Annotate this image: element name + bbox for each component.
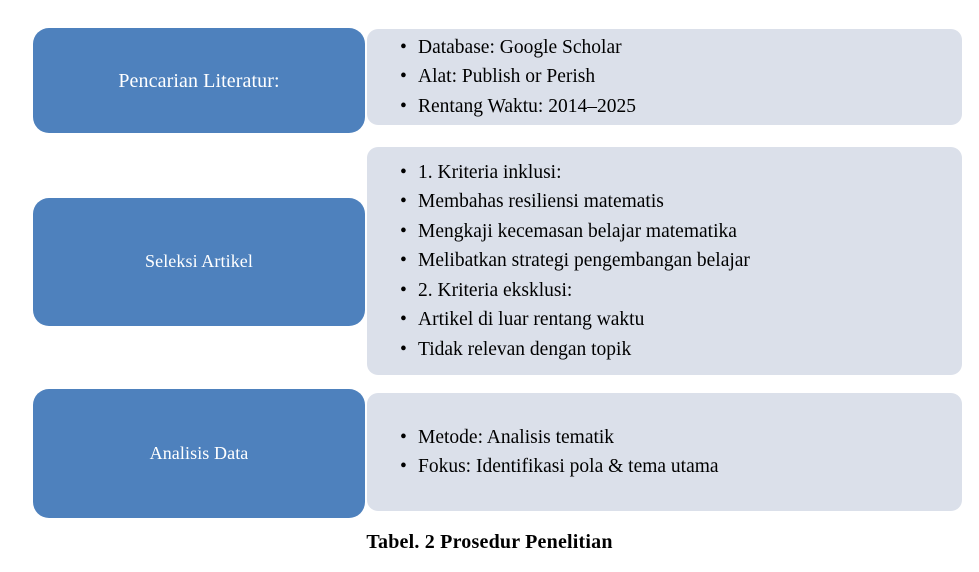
list-item: •Artikel di luar rentang waktu	[400, 305, 962, 335]
bullet-text: Database: Google Scholar	[418, 37, 622, 58]
list-item: •Rentang Waktu: 2014–2025	[400, 92, 962, 122]
list-item: •Alat: Publish or Perish	[400, 62, 962, 92]
bullet-point-icon: •	[400, 423, 407, 453]
bullet-text: Membahas resiliensi matematis	[418, 191, 664, 212]
bullet-text: Metode: Analisis tematik	[418, 427, 614, 448]
bullet-point-icon: •	[400, 33, 407, 63]
bullet-list-1: •Database: Google Scholar •Alat: Publish…	[367, 33, 962, 122]
figure-caption: Tabel. 2 Prosedur Penelitian	[0, 531, 979, 554]
stage-label-text-3: Analisis Data	[150, 443, 249, 465]
stage-detail-panel-1: •Database: Google Scholar •Alat: Publish…	[367, 29, 962, 125]
list-item: •Melibatkan strategi pengembangan belaja…	[400, 246, 962, 276]
bullet-point-icon: •	[400, 187, 407, 217]
bullet-point-icon: •	[400, 276, 407, 306]
bullet-point-icon: •	[400, 92, 407, 122]
bullet-text: Alat: Publish or Perish	[418, 66, 595, 87]
bullet-point-icon: •	[400, 305, 407, 335]
stage-detail-panel-3: •Metode: Analisis tematik •Fokus: Identi…	[367, 393, 962, 511]
list-item: •Fokus: Identifikasi pola & tema utama	[400, 452, 962, 482]
bullet-list-3: •Metode: Analisis tematik •Fokus: Identi…	[367, 423, 962, 482]
bullet-text: Mengkaji kecemasan belajar matematika	[418, 221, 737, 242]
list-item: •Metode: Analisis tematik	[400, 423, 962, 453]
bullet-point-icon: •	[400, 452, 407, 482]
stage-label-box-2[interactable]: Seleksi Artikel	[33, 198, 365, 326]
stage-label-text-2: Seleksi Artikel	[145, 251, 253, 273]
bullet-text: Artikel di luar rentang waktu	[418, 309, 644, 330]
bullet-text: 1. Kriteria inklusi:	[418, 162, 562, 183]
list-item: •Membahas resiliensi matematis	[400, 187, 962, 217]
bullet-text: Rentang Waktu: 2014–2025	[418, 96, 636, 117]
bullet-list-2: •1. Kriteria inklusi: •Membahas resilien…	[367, 158, 962, 365]
stage-detail-panel-2: •1. Kriteria inklusi: •Membahas resilien…	[367, 147, 962, 375]
list-item: •Database: Google Scholar	[400, 33, 962, 63]
bullet-point-icon: •	[400, 335, 407, 365]
stage-label-text-1: Pencarian Literatur:	[118, 69, 279, 93]
bullet-text: 2. Kriteria eksklusi:	[418, 280, 572, 301]
bullet-point-icon: •	[400, 158, 407, 188]
procedure-diagram: Pencarian Literatur: •Database: Google S…	[0, 0, 979, 572]
bullet-text: Tidak relevan dengan topik	[418, 339, 631, 360]
bullet-text: Melibatkan strategi pengembangan belajar	[418, 250, 750, 271]
stage-label-box-1[interactable]: Pencarian Literatur:	[33, 28, 365, 133]
bullet-text: Fokus: Identifikasi pola & tema utama	[418, 456, 719, 477]
stage-label-box-3[interactable]: Analisis Data	[33, 389, 365, 518]
bullet-point-icon: •	[400, 246, 407, 276]
list-item: •Tidak relevan dengan topik	[400, 335, 962, 365]
list-item: •Mengkaji kecemasan belajar matematika	[400, 217, 962, 247]
list-item: •2. Kriteria eksklusi:	[400, 276, 962, 306]
list-item: •1. Kriteria inklusi:	[400, 158, 962, 188]
bullet-point-icon: •	[400, 62, 407, 92]
bullet-point-icon: •	[400, 217, 407, 247]
